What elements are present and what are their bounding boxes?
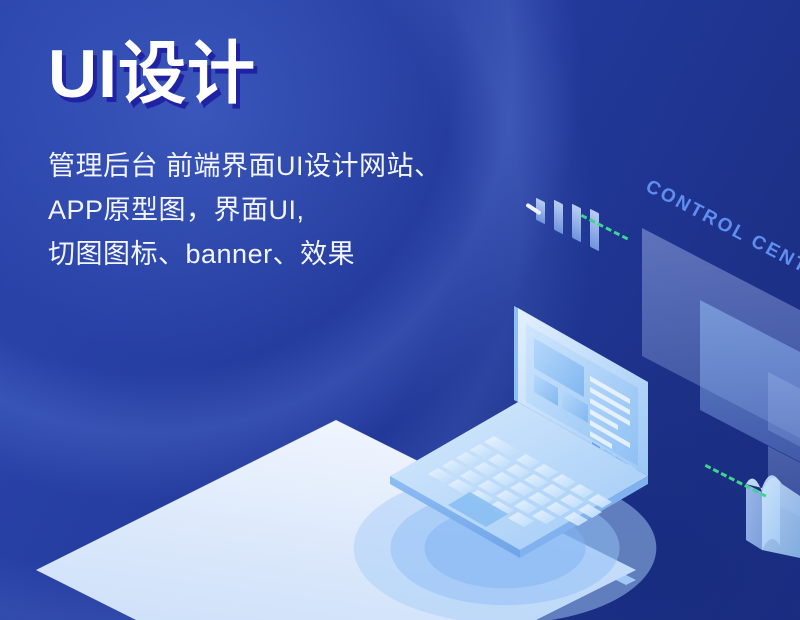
subtitle-line-2: APP原型图，界面UI,	[48, 189, 442, 233]
subtitle-line-3: 切图图标、banner、效果	[48, 233, 442, 277]
subtitle-line-1: 管理后台 前端界面UI设计网站、	[48, 145, 442, 189]
edge-cutoff-object	[742, 462, 800, 558]
signal-bar-3	[572, 204, 581, 243]
ui-design-banner: CONTROL CENTER	[0, 0, 800, 620]
laptop-illustration	[330, 300, 670, 590]
green-dashed-connector-top	[581, 214, 629, 240]
page-title: UI设计	[48, 38, 442, 111]
signal-bar-4	[590, 209, 599, 252]
text-block: UI设计 管理后台 前端界面UI设计网站、 APP原型图，界面UI, 切图图标、…	[48, 38, 442, 277]
signal-bar-2	[554, 200, 563, 235]
